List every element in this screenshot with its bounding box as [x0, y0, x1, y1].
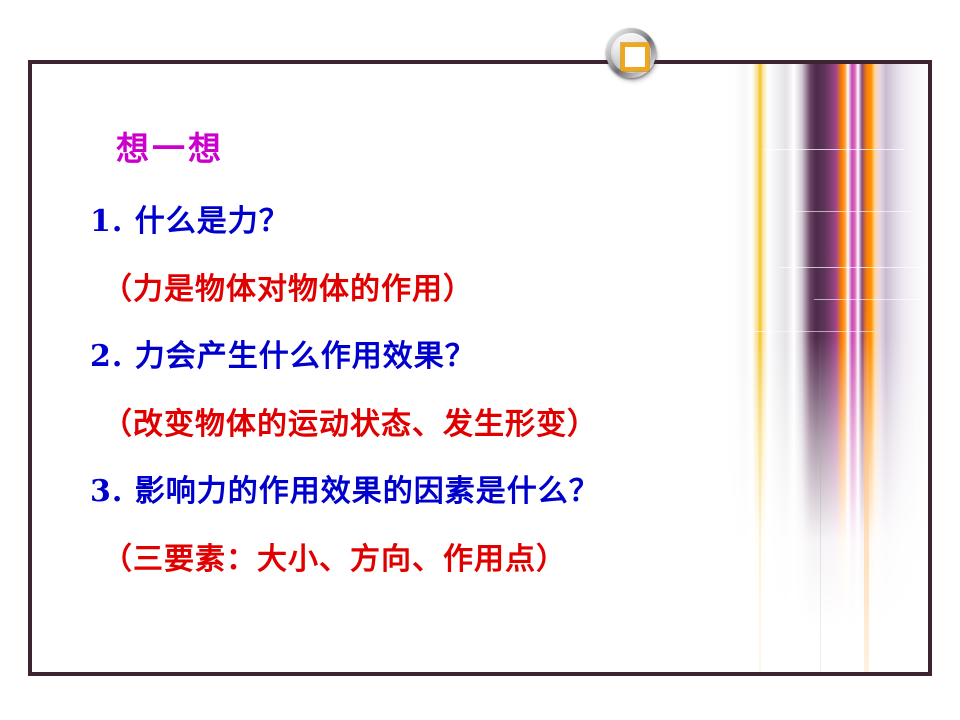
streak-fade-overlay: [724, 61, 931, 675]
answer-line-3: （三要素：大小、方向、作用点）: [102, 534, 567, 578]
frame-border-right: [928, 60, 932, 676]
streak-warm-tail: [864, 61, 869, 675]
streak-hairline: [794, 211, 914, 212]
slide-canvas: 想一想 1. 什么是力？ （力是物体对物体的作用） 2. 力会产生什么作用效果？…: [0, 0, 960, 720]
decorative-streaks-graphic: [724, 61, 931, 675]
metallic-circle-button: [606, 28, 658, 80]
streak-hairline: [744, 331, 874, 332]
streak-warm-tail: [759, 61, 761, 675]
streak-hairline: [814, 299, 924, 300]
streak-hairline: [764, 149, 904, 150]
answer-line-2: （改变物体的运动状态、发生形变）: [102, 399, 598, 443]
orange-square-icon: [621, 43, 649, 71]
question-line-2: 2. 力会产生什么作用效果？: [90, 331, 476, 375]
question-line-3: 3. 影响力的作用效果的因素是什么？: [90, 466, 600, 510]
page-title: 想一想: [116, 122, 224, 170]
slide-text-block: 想一想 1. 什么是力？ （力是物体对物体的作用） 2. 力会产生什么作用效果？…: [0, 0, 724, 720]
answer-line-1: （力是物体对物体的作用）: [102, 264, 474, 308]
question-line-1: 1. 什么是力？: [90, 196, 290, 240]
streak-hairline: [779, 267, 929, 268]
streak-cool-tail: [820, 61, 821, 675]
streak-band: [724, 61, 931, 675]
